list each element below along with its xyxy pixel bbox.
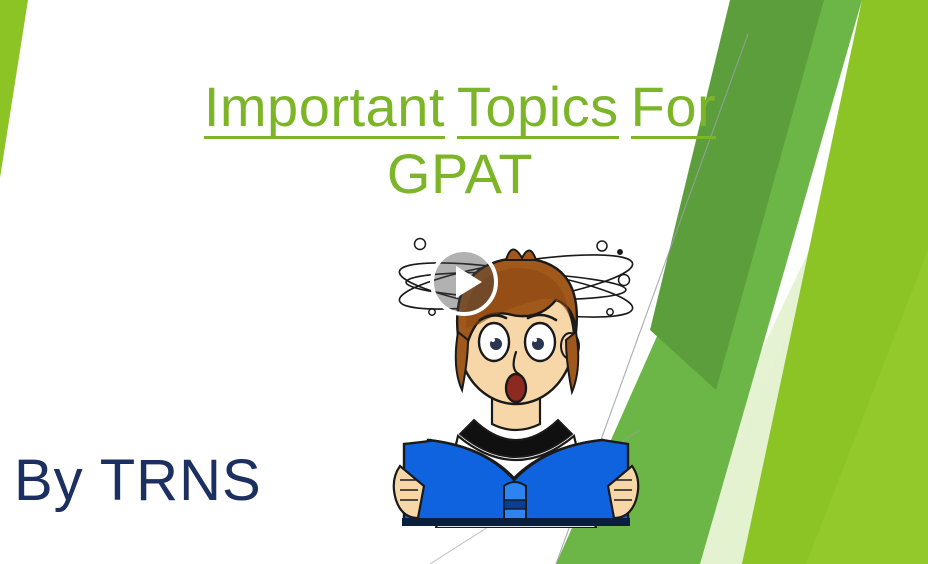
- left-green-sliver: [0, 0, 28, 178]
- title-word-important: Important: [204, 78, 445, 139]
- presentation-slide: ImportantTopicsFor GPAT By TRNS: [0, 0, 928, 564]
- title-word-gpat: GPAT: [387, 145, 533, 202]
- book-spine-band: [504, 500, 526, 509]
- title-line-1: ImportantTopicsFor: [120, 78, 800, 139]
- title-line-2: GPAT: [120, 145, 800, 202]
- author-credit: By TRNS: [14, 447, 262, 514]
- eye-highlight-right: [533, 338, 537, 342]
- slide-title: ImportantTopicsFor GPAT: [120, 78, 800, 202]
- bright-green-slice: [806, 250, 928, 564]
- hair-tuft: [506, 249, 536, 260]
- mouth: [506, 374, 526, 402]
- title-word-topics: Topics: [457, 78, 619, 139]
- video-play-button[interactable]: [428, 246, 500, 318]
- eye-highlight-left: [491, 338, 495, 342]
- title-word-for: For: [631, 78, 717, 139]
- hair-sideburn-right: [566, 332, 578, 392]
- hair-sideburn-left: [456, 332, 468, 390]
- book-base-shadow: [402, 518, 630, 526]
- illustration-confused-student: [388, 228, 644, 528]
